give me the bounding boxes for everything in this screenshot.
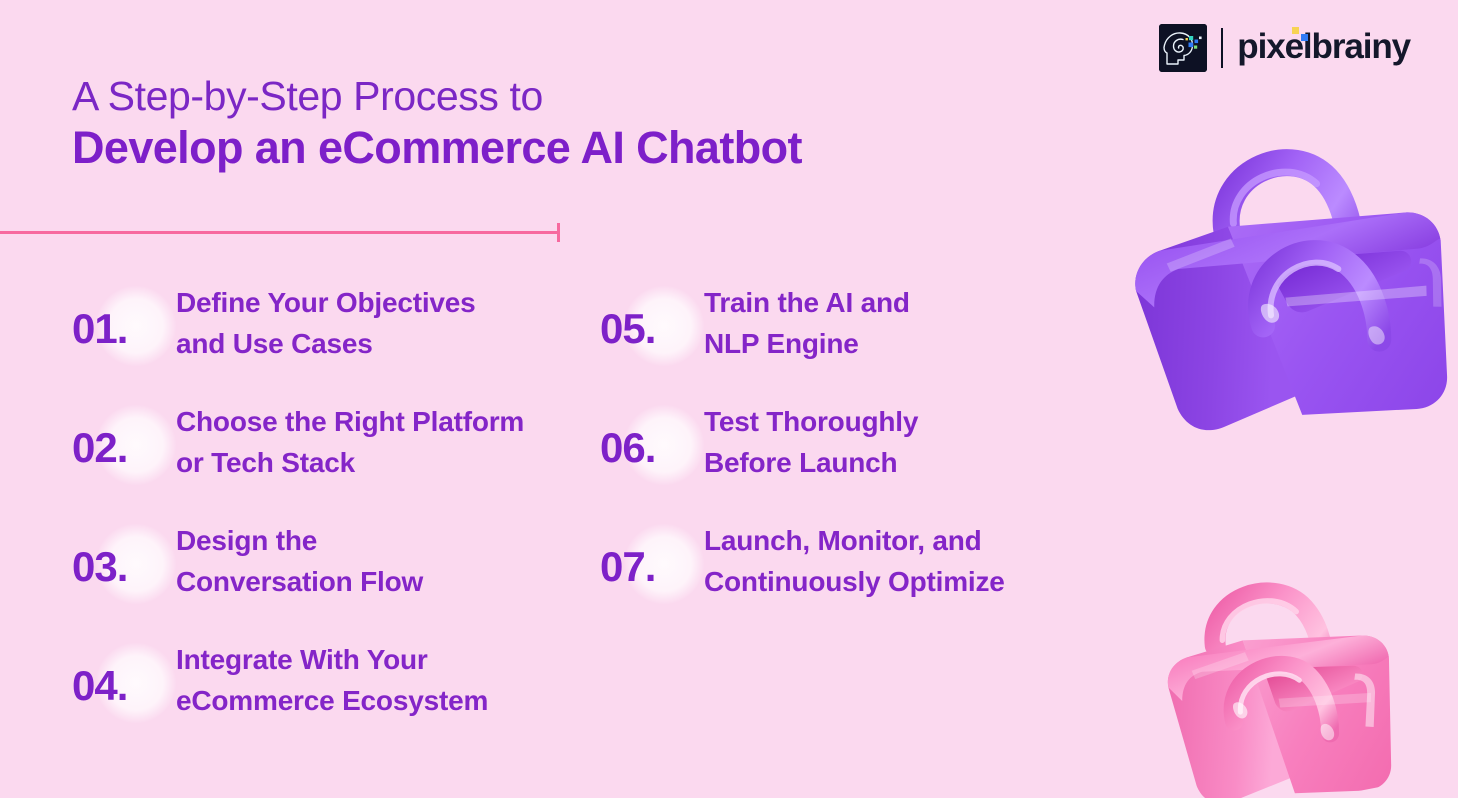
step-label-line-2: Conversation Flow <box>176 561 600 602</box>
step-number-badge: 04. <box>72 629 176 729</box>
step-label: Define Your Objectives and Use Cases <box>176 272 600 365</box>
shopping-bag-icon <box>1134 534 1427 798</box>
step-label-line-1: Design the <box>176 520 600 561</box>
step-label: Test Thoroughly Before Launch <box>704 391 1160 484</box>
step-label-line-1: Launch, Monitor, and <box>704 520 1160 561</box>
step-label-line-1: Define Your Objectives <box>176 282 600 323</box>
step-number: 01. <box>72 294 127 350</box>
title-line-1: A Step-by-Step Process to <box>72 74 1032 120</box>
brain-head-icon <box>1159 24 1207 72</box>
list-item[interactable]: 07. Launch, Monitor, and Continuously Op… <box>600 510 1160 629</box>
step-number: 07. <box>600 532 655 588</box>
step-label: Integrate With Your eCommerce Ecosystem <box>176 629 600 722</box>
step-number: 05. <box>600 294 655 350</box>
infographic-canvas: pixelbrainy A Step-by-Step Process to De… <box>0 0 1458 798</box>
brand-name-text: pixelbrainy <box>1237 27 1410 66</box>
step-label-line-2: eCommerce Ecosystem <box>176 680 600 721</box>
step-label: Design the Conversation Flow <box>176 510 600 603</box>
step-label-line-1: Choose the Right Platform <box>176 401 600 442</box>
title-divider <box>0 231 560 234</box>
brand-name: pixelbrainy <box>1237 29 1410 67</box>
title-line-2: Develop an eCommerce AI Chatbot <box>72 120 1032 176</box>
list-item[interactable]: 03. Design the Conversation Flow <box>72 510 600 629</box>
step-label-line-1: Test Thoroughly <box>704 401 1160 442</box>
step-label-line-2: Before Launch <box>704 442 1160 483</box>
step-label: Train the AI and NLP Engine <box>704 272 1160 365</box>
page-title: A Step-by-Step Process to Develop an eCo… <box>72 74 1032 176</box>
step-label: Launch, Monitor, and Continuously Optimi… <box>704 510 1160 603</box>
step-label-line-2: NLP Engine <box>704 323 1160 364</box>
logo-divider <box>1221 28 1223 68</box>
step-label: Choose the Right Platform or Tech Stack <box>176 391 600 484</box>
step-number: 04. <box>72 651 127 707</box>
steps-column-left: 01. Define Your Objectives and Use Cases… <box>0 272 600 748</box>
step-label-line-2: Continuously Optimize <box>704 561 1160 602</box>
step-number: 03. <box>72 532 127 588</box>
brand-logo[interactable]: pixelbrainy <box>1159 24 1410 72</box>
step-label-line-2: and Use Cases <box>176 323 600 364</box>
list-item[interactable]: 06. Test Thoroughly Before Launch <box>600 391 1160 510</box>
step-number-badge: 01. <box>72 272 176 372</box>
step-label-line-1: Train the AI and <box>704 282 1160 323</box>
divider-end-cap <box>557 223 560 242</box>
step-number-badge: 03. <box>72 510 176 610</box>
logo-accent-blue-square <box>1301 34 1308 41</box>
step-number-badge: 02. <box>72 391 176 491</box>
logo-accent-yellow-square <box>1292 27 1299 34</box>
step-number: 02. <box>72 413 127 469</box>
step-label-line-2: or Tech Stack <box>176 442 600 483</box>
list-item[interactable]: 01. Define Your Objectives and Use Cases <box>72 272 600 391</box>
list-item[interactable]: 05. Train the AI and NLP Engine <box>600 272 1160 391</box>
list-item[interactable]: 04. Integrate With Your eCommerce Ecosys… <box>72 629 600 748</box>
step-number-badge: 06. <box>600 391 704 491</box>
steps-container: 01. Define Your Objectives and Use Cases… <box>0 272 1180 748</box>
list-item[interactable]: 02. Choose the Right Platform or Tech St… <box>72 391 600 510</box>
step-label-line-1: Integrate With Your <box>176 639 600 680</box>
step-number-badge: 05. <box>600 272 704 372</box>
steps-column-right: 05. Train the AI and NLP Engine 06. Test… <box>600 272 1160 748</box>
step-number-badge: 07. <box>600 510 704 610</box>
step-number: 06. <box>600 413 655 469</box>
